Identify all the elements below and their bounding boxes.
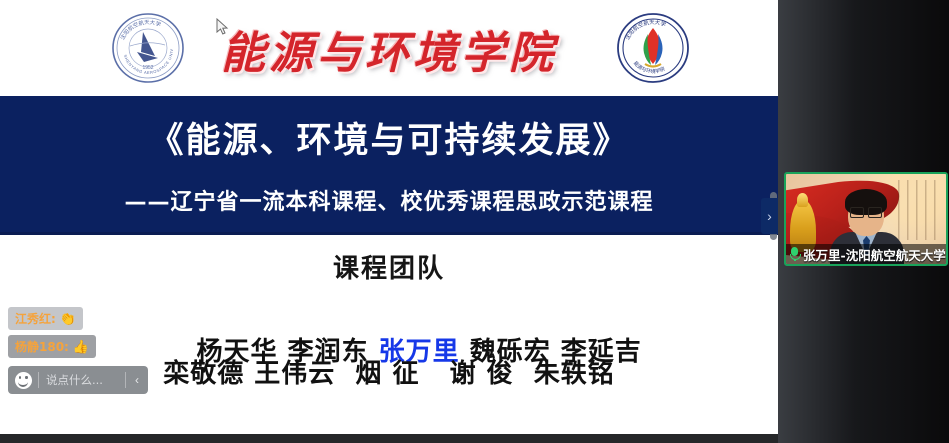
slide-banner: 《能源、环境与可持续发展》 ——辽宁省一流本科课程、校优秀课程思政示范课程 [0, 96, 778, 235]
thumbs-up-emoji: 👍 [73, 340, 89, 353]
slide-header: 1952 沈阳航空航天大学 SHENYANG AEROSPACE UNIVERS… [0, 0, 778, 96]
chat-overlay: 江秀红: 👏 杨静180: 👍 说点什么... ‹ [8, 307, 168, 394]
participant-video-tile[interactable]: 张万里-沈阳航空航天大学 [784, 172, 948, 266]
participant-name-bar: 张万里-沈阳航空航天大学 [786, 244, 946, 264]
chat-input-bar[interactable]: 说点什么... ‹ [8, 366, 148, 394]
chat-input[interactable]: 说点什么... [39, 372, 125, 388]
chat-sender-name: 江秀红: [15, 310, 56, 327]
chat-message: 江秀红: 👏 [8, 307, 83, 330]
clapping-hands-emoji: 👏 [60, 312, 76, 325]
participant-glasses [850, 207, 882, 216]
microphone-icon[interactable] [789, 247, 800, 261]
expand-panel-chevron-icon[interactable]: › [761, 198, 778, 234]
college-seal-icon: 沈阳航空航天大学 能源与环境学院 [615, 12, 691, 84]
course-title: 《能源、环境与可持续发展》 [0, 112, 778, 163]
meeting-screen: 1952 沈阳航空航天大学 SHENYANG AEROSPACE UNIVERS… [0, 0, 949, 443]
course-subtitle: ——辽宁省一流本科课程、校优秀课程思政示范课程 [0, 184, 778, 216]
collapse-chat-chevron-icon[interactable]: ‹ [126, 373, 148, 387]
emoji-picker-button[interactable] [8, 372, 38, 389]
participant-name: 张万里-沈阳航空航天大学 [803, 245, 946, 264]
bottom-toolbar-strip [0, 434, 778, 443]
decorative-calligraphy [898, 180, 940, 240]
chat-message: 杨静180: 👍 [8, 335, 96, 358]
team-heading: 课程团队 [0, 248, 778, 285]
chat-sender-name: 杨静180: [15, 338, 69, 355]
smiley-face-icon [15, 372, 32, 389]
